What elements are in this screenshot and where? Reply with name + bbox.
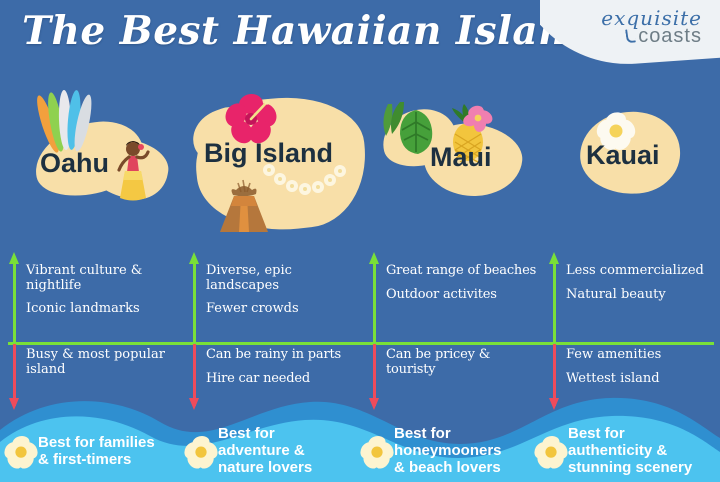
column-maui: Great range of beaches Outdoor activites… — [360, 252, 540, 402]
island-oahu[interactable]: Oahu — [28, 96, 168, 206]
pro-item: Diverse, epic landscapes — [206, 264, 358, 293]
up-arrow-stem — [13, 262, 16, 344]
logo-text: exquisite coasts — [601, 8, 702, 46]
caption-text: Best for families & first-timers — [38, 434, 188, 468]
island-label: Kauai — [586, 140, 660, 171]
up-arrow-stem — [553, 262, 556, 344]
pros-list: Diverse, epic landscapes Fewer crowds — [206, 264, 358, 326]
pro-item: Outdoor activites — [386, 288, 538, 303]
plumeria-flower-icon — [358, 434, 396, 472]
con-item: Busy & most popular island — [26, 348, 178, 377]
plumeria-flower-icon — [2, 434, 40, 472]
column-kauai: Less commercialized Natural beauty Few a… — [540, 252, 720, 402]
pro-item: Vibrant culture & nightlife — [26, 264, 178, 293]
con-item: Hire car needed — [206, 372, 358, 387]
pros-cons-section: Vibrant culture & nightlife Iconic landm… — [0, 252, 720, 402]
cons-list: Busy & most popular island — [26, 348, 178, 386]
captions-row: Best for families & first-timers Best fo… — [0, 404, 720, 482]
up-arrow-stem — [193, 262, 196, 344]
pro-con-axis — [10, 252, 20, 402]
pro-con-axis — [190, 252, 200, 402]
island-label: Maui — [430, 142, 492, 173]
island-big-island[interactable]: Big Island — [188, 80, 378, 245]
infographic-root: The Best Hawaiian Islands exquisite coas… — [0, 0, 720, 482]
island-kauai[interactable]: Kauai — [572, 104, 692, 206]
islands-row: Oahu — [0, 78, 720, 253]
pro-item: Fewer crowds — [206, 302, 358, 317]
pros-list: Less commercialized Natural beauty — [566, 264, 718, 311]
island-maui[interactable]: Maui — [378, 100, 528, 208]
con-item: Can be pricey & touristy — [386, 348, 538, 377]
column-oahu: Vibrant culture & nightlife Iconic landm… — [0, 252, 180, 402]
pro-con-axis — [370, 252, 380, 402]
pro-item: Iconic landmarks — [26, 302, 178, 317]
island-label: Oahu — [40, 148, 109, 179]
plumeria-flower-icon — [532, 434, 570, 472]
brand-logo[interactable]: exquisite coasts — [540, 0, 720, 68]
caption-text: Best for authenticity & stunning scenery — [568, 425, 718, 476]
plumeria-flower-icon — [182, 434, 220, 472]
caption-text: Best for honeymooners & beach lovers — [394, 425, 544, 476]
pro-item: Great range of beaches — [386, 264, 538, 279]
island-label: Big Island — [204, 138, 333, 169]
con-item: Few amenities — [566, 348, 718, 363]
column-big-island: Diverse, epic landscapes Fewer crowds Ca… — [180, 252, 360, 402]
pro-con-axis — [550, 252, 560, 402]
pro-item: Natural beauty — [566, 288, 718, 303]
page-title: The Best Hawaiian Islands — [22, 8, 617, 54]
pros-list: Vibrant culture & nightlife Iconic landm… — [26, 264, 178, 326]
con-item: Wettest island — [566, 372, 718, 387]
pros-list: Great range of beaches Outdoor activites — [386, 264, 538, 311]
up-arrow-stem — [373, 262, 376, 344]
caption-text: Best for adventure & nature lovers — [218, 425, 368, 476]
con-item: Can be rainy in parts — [206, 348, 358, 363]
pro-item: Less commercialized — [566, 264, 718, 279]
cons-list: Can be pricey & touristy — [386, 348, 538, 386]
